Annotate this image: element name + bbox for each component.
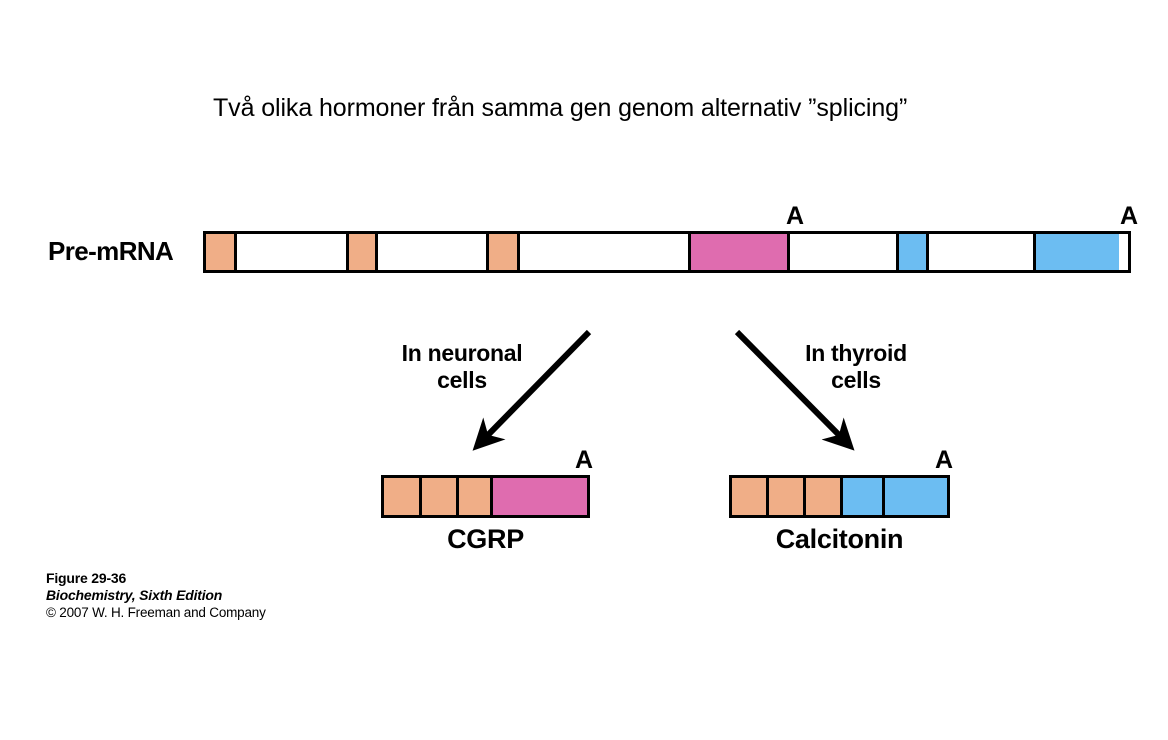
segment-exon-3 xyxy=(489,234,520,270)
segment-exon-4-cgrp xyxy=(691,234,790,270)
segment-exon-5-calcitonin xyxy=(843,478,885,515)
calcitonin-mrna-bar xyxy=(729,475,950,518)
caption-book-title: Biochemistry, Sixth Edition xyxy=(46,587,266,603)
product-name-calcitonin: Calcitonin xyxy=(729,524,950,555)
poly-a-marker-calcitonin: A xyxy=(1120,204,1138,229)
pre-mrna-bar xyxy=(203,231,1131,273)
poly-a-marker-calcitonin-product: A xyxy=(935,448,953,473)
segment-exon-1 xyxy=(732,478,769,515)
segment-intron-2 xyxy=(378,234,489,270)
segment-exon-2 xyxy=(422,478,459,515)
segment-intron-4 xyxy=(790,234,899,270)
segment-exon-3 xyxy=(806,478,843,515)
segment-exon-6-calcitonin xyxy=(885,478,947,515)
segment-exon-2 xyxy=(769,478,806,515)
segment-exon-4-cgrp xyxy=(493,478,587,515)
pre-mrna-label: Pre-mRNA xyxy=(48,236,173,267)
segment-exon-1 xyxy=(384,478,422,515)
segment-intron-3 xyxy=(520,234,691,270)
segment-exon-1 xyxy=(206,234,237,270)
segment-exon-5-calcitonin xyxy=(899,234,929,270)
segment-exon-2 xyxy=(349,234,378,270)
pathway-label-thyroid-line1: In thyroid xyxy=(780,340,932,367)
segment-exon-3 xyxy=(459,478,493,515)
poly-a-marker-cgrp: A xyxy=(786,204,804,229)
figure-canvas: Två olika hormoner från samma gen genom … xyxy=(0,0,1168,740)
segment-exon-6-calcitonin xyxy=(1036,234,1119,270)
segment-intron-1 xyxy=(237,234,349,270)
caption-figure-number: Figure 29-36 xyxy=(46,570,266,586)
pathway-label-thyroid-line2: cells xyxy=(780,367,932,394)
cgrp-mrna-bar xyxy=(381,475,590,518)
pathway-label-neuronal-line2: cells xyxy=(378,367,546,394)
pathway-label-thyroid: In thyroid cells xyxy=(780,340,932,394)
segment-intron-5 xyxy=(929,234,1036,270)
caption-copyright: © 2007 W. H. Freeman and Company xyxy=(46,605,266,620)
figure-caption: Figure 29-36 Biochemistry, Sixth Edition… xyxy=(46,570,266,620)
page-title: Två olika hormoner från samma gen genom … xyxy=(213,94,907,123)
pathway-label-neuronal: In neuronal cells xyxy=(378,340,546,394)
pathway-label-neuronal-line1: In neuronal xyxy=(378,340,546,367)
poly-a-marker-cgrp-product: A xyxy=(575,448,593,473)
product-name-cgrp: CGRP xyxy=(381,524,590,555)
